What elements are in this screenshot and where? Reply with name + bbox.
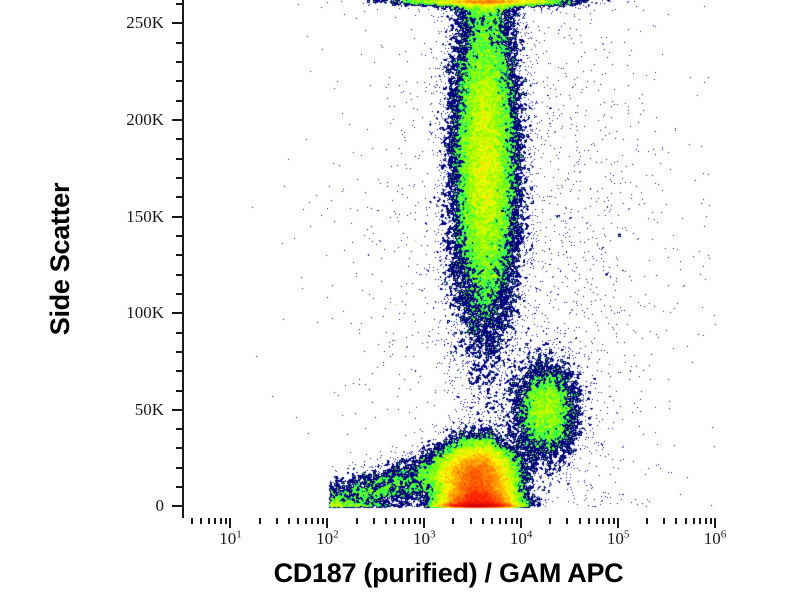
x-tick-minor: [200, 518, 202, 524]
x-tick-minor: [452, 518, 454, 524]
y-tick-label: 250K: [126, 14, 164, 31]
x-tick-minor: [305, 518, 307, 524]
x-tick-minor: [579, 518, 581, 524]
y-axis-title: Side Scatter: [34, 0, 86, 518]
x-tick-minor: [394, 518, 396, 524]
scatter-plot-area: [182, 0, 715, 518]
y-tick-minor: [176, 80, 182, 82]
x-tick-minor: [482, 518, 484, 524]
x-tick-minor: [288, 518, 290, 524]
x-tick-major: [423, 518, 425, 528]
x-tick-minor: [491, 518, 493, 524]
x-tick-minor: [675, 518, 677, 524]
y-tick-label: 100K: [126, 304, 164, 321]
y-tick-minor: [176, 177, 182, 179]
x-tick-minor: [220, 518, 222, 524]
y-tick-minor: [176, 235, 182, 237]
x-tick-label: 103: [413, 530, 436, 547]
y-tick-label: 150K: [126, 208, 164, 225]
y-tick-minor: [176, 158, 182, 160]
y-tick-minor: [176, 467, 182, 469]
x-tick-minor: [356, 518, 358, 524]
x-tick-minor: [470, 518, 472, 524]
x-tick-major: [520, 518, 522, 528]
x-tick-minor: [608, 518, 610, 524]
x-tick-minor: [516, 518, 518, 524]
x-tick-minor: [276, 518, 278, 524]
x-tick-major: [714, 518, 716, 528]
y-tick-label: 50K: [135, 401, 164, 418]
y-tick-minor: [176, 351, 182, 353]
x-tick-minor: [208, 518, 210, 524]
y-tick-minor: [176, 100, 182, 102]
x-tick-minor: [710, 518, 712, 524]
y-tick-minor: [176, 332, 182, 334]
y-tick-minor: [176, 61, 182, 63]
x-tick-minor: [408, 518, 410, 524]
x-tick-minor: [613, 518, 615, 524]
y-tick-minor: [176, 447, 182, 449]
y-tick-minor: [176, 254, 182, 256]
x-tick-minor: [214, 518, 216, 524]
x-tick-minor: [699, 518, 701, 524]
x-tick-minor: [663, 518, 665, 524]
x-tick-label: 102: [316, 530, 339, 547]
x-tick-label: 104: [510, 530, 533, 547]
x-tick-minor: [191, 518, 193, 524]
x-axis-title: CD187 (purified) / GAM APC: [182, 558, 715, 589]
y-tick-minor: [176, 274, 182, 276]
y-tick-minor: [176, 138, 182, 140]
x-tick-minor: [317, 518, 319, 524]
x-tick-minor: [322, 518, 324, 524]
x-tick-minor: [499, 518, 501, 524]
x-tick-minor: [588, 518, 590, 524]
x-tick-minor: [297, 518, 299, 524]
x-tick-minor: [511, 518, 513, 524]
x-tick-minor: [419, 518, 421, 524]
x-tick-minor: [602, 518, 604, 524]
x-tick-minor: [596, 518, 598, 524]
x-tick-minor: [414, 518, 416, 524]
x-tick-major: [617, 518, 619, 528]
y-tick-major: [172, 22, 182, 24]
x-tick-minor: [566, 518, 568, 524]
x-tick-minor: [646, 518, 648, 524]
x-tick-minor: [505, 518, 507, 524]
flow-cytometry-figure: 050K100K150K200K250K 101102103104105106 …: [0, 0, 800, 600]
y-tick-minor: [176, 293, 182, 295]
y-tick-minor: [176, 3, 182, 5]
x-tick-minor: [402, 518, 404, 524]
density-scatter-canvas: [184, 0, 717, 518]
x-tick-major: [326, 518, 328, 528]
x-tick-minor: [385, 518, 387, 524]
x-tick-major: [229, 518, 231, 528]
x-tick-minor: [373, 518, 375, 524]
y-tick-minor: [176, 370, 182, 372]
y-tick-major: [172, 409, 182, 411]
y-tick-minor: [176, 42, 182, 44]
y-tick-major: [172, 312, 182, 314]
x-tick-minor: [693, 518, 695, 524]
y-tick-label: 200K: [126, 111, 164, 128]
x-tick-label: 105: [607, 530, 630, 547]
x-tick-minor: [259, 518, 261, 524]
y-tick-major: [172, 216, 182, 218]
x-tick-minor: [311, 518, 313, 524]
y-tick-minor: [176, 196, 182, 198]
y-tick-minor: [176, 390, 182, 392]
y-tick-minor: [176, 486, 182, 488]
x-tick-minor: [225, 518, 227, 524]
x-tick-minor: [549, 518, 551, 524]
x-tick-label: 106: [704, 530, 727, 547]
y-tick-major: [172, 505, 182, 507]
x-tick-minor: [685, 518, 687, 524]
y-tick-minor: [176, 428, 182, 430]
x-tick-label: 101: [219, 530, 242, 547]
y-tick-major: [172, 119, 182, 121]
y-tick-label: 0: [156, 497, 165, 514]
x-tick-minor: [705, 518, 707, 524]
